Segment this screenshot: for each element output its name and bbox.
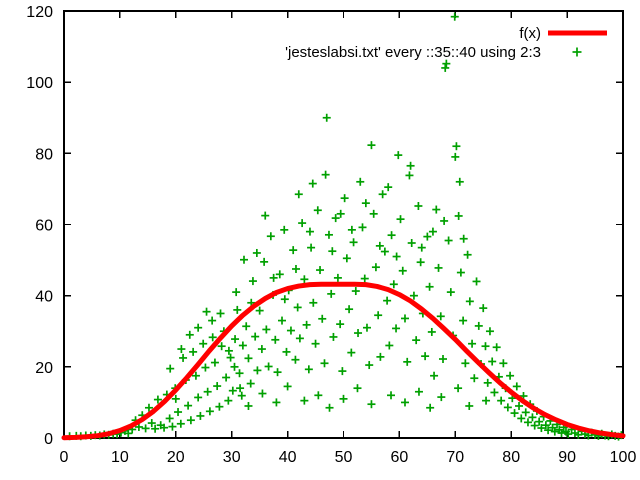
- x-tick-label: 0: [60, 449, 69, 466]
- legend-label-fx: f(x): [519, 25, 541, 42]
- x-tick-label: 80: [502, 449, 520, 466]
- y-tick-label: 0: [44, 431, 53, 448]
- x-tick-label: 100: [610, 449, 637, 466]
- x-tick-label: 50: [335, 449, 353, 466]
- x-tick-label: 70: [446, 449, 464, 466]
- chart-svg: 020406080100120 0102030405060708090100 f…: [0, 0, 640, 480]
- chart-background: [0, 0, 640, 480]
- x-tick-label: 90: [558, 449, 576, 466]
- x-tick-label: 10: [111, 449, 129, 466]
- x-tick-label: 40: [279, 449, 297, 466]
- y-tick-label: 100: [26, 75, 53, 92]
- y-tick-label: 40: [35, 289, 53, 306]
- y-tick-label: 80: [35, 146, 53, 163]
- x-tick-label: 20: [167, 449, 185, 466]
- y-tick-label: 60: [35, 218, 53, 235]
- x-tick-label: 30: [223, 449, 241, 466]
- y-tick-label: 20: [35, 360, 53, 377]
- legend-label-data: 'jesteslabsi.txt' every ::35::40 using 2…: [285, 44, 541, 61]
- gnuplot-canvas: 020406080100120 0102030405060708090100 f…: [0, 0, 640, 480]
- y-tick-label: 120: [26, 4, 53, 21]
- x-tick-label: 60: [391, 449, 409, 466]
